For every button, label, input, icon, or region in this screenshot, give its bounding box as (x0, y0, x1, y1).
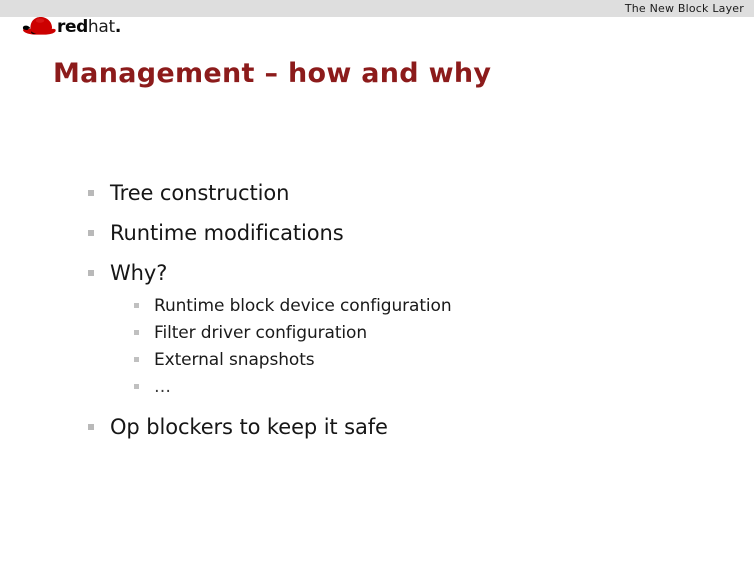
sub-list-item-label: Filter driver configuration (154, 323, 367, 343)
slide-body: Tree construction Runtime modifications … (0, 180, 754, 454)
square-bullet-icon (134, 384, 139, 389)
slide-root: { "header": { "title": "The New Block La… (0, 0, 754, 566)
logo-word-red: red (57, 17, 88, 37)
square-bullet-icon (88, 190, 94, 196)
list-item: Why? Runtime block device configuration … (88, 260, 754, 398)
square-bullet-icon (88, 230, 94, 236)
logo-word-dot: . (115, 17, 121, 37)
redhat-logo: redhat. (20, 12, 121, 38)
square-bullet-icon (88, 270, 94, 276)
redhat-shadowman-icon (20, 14, 58, 38)
square-bullet-icon (134, 357, 139, 362)
list-item-label: Op blockers to keep it safe (110, 415, 388, 439)
square-bullet-icon (134, 303, 139, 308)
list-item-label: Why? (110, 261, 167, 285)
list-item-label: Tree construction (110, 181, 289, 205)
bullet-list-level2: Runtime block device configuration Filte… (110, 295, 754, 398)
sub-list-item-label: … (154, 377, 173, 397)
list-item: Op blockers to keep it safe (88, 414, 754, 440)
sub-list-item: … (134, 376, 754, 398)
redhat-wordmark: redhat. (57, 19, 121, 36)
sub-list-item: External snapshots (134, 349, 754, 371)
logo-word-hat: hat (88, 17, 115, 37)
presentation-title: The New Block Layer (625, 1, 744, 16)
list-item-label: Runtime modifications (110, 221, 344, 245)
bullet-list-level1: Tree construction Runtime modifications … (0, 180, 754, 440)
slide-title: Management – how and why (53, 58, 491, 89)
sub-list-item: Runtime block device configuration (134, 295, 754, 317)
list-item: Tree construction (88, 180, 754, 206)
sub-list-item-label: External snapshots (154, 350, 315, 370)
sub-list-item-label: Runtime block device configuration (154, 296, 452, 316)
square-bullet-icon (134, 330, 139, 335)
sub-list-item: Filter driver configuration (134, 322, 754, 344)
list-item: Runtime modifications (88, 220, 754, 246)
square-bullet-icon (88, 424, 94, 430)
